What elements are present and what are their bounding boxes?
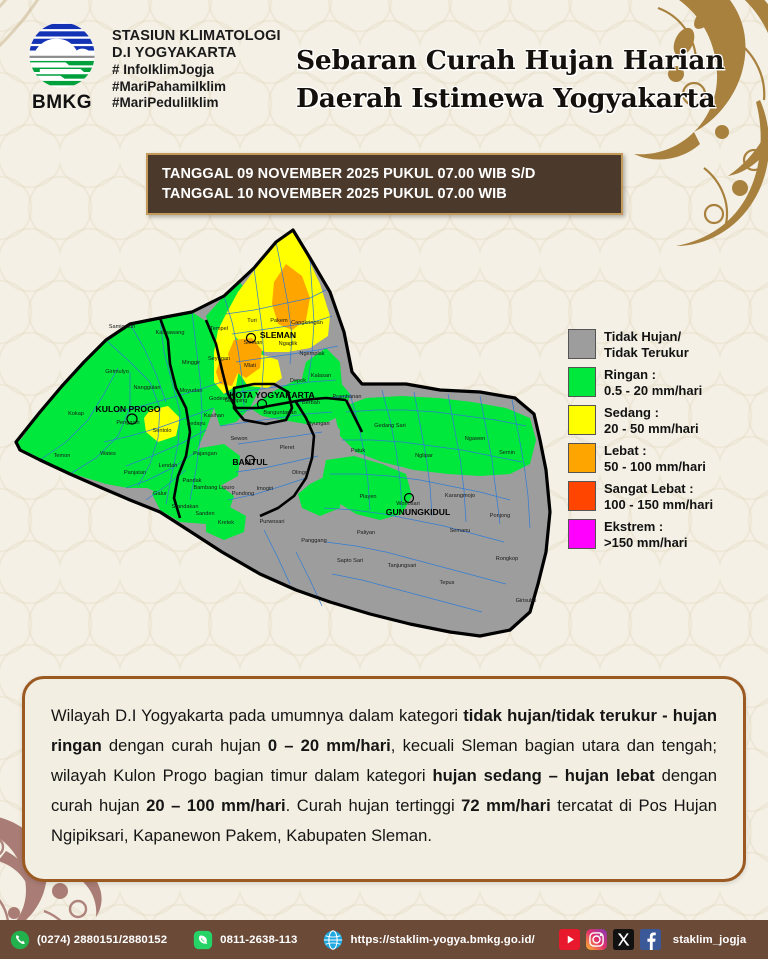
- legend-swatch-1: [568, 367, 596, 397]
- social-handle-text: staklim_jogja: [673, 934, 746, 946]
- legend-item: Sedang :20 - 50 mm/hari: [568, 404, 760, 436]
- facebook-icon[interactable]: [640, 929, 661, 950]
- bmkg-logo-block: BMKG: [16, 18, 108, 112]
- map-label-kecamatan: Imogiri: [257, 486, 274, 492]
- map-label-kecamatan: Bambang Lipuro: [193, 485, 234, 491]
- legend-swatch-3: [568, 443, 596, 473]
- map-label-kecamatan: Minggir: [182, 360, 200, 366]
- date-range-line2: TANGGAL 10 NOVEMBER 2025 PUKUL 07.00 WIB: [162, 184, 621, 204]
- phone-text: (0274) 2880151/2880152: [37, 934, 167, 946]
- legend-item: Ekstrem :>150 mm/hari: [568, 518, 760, 550]
- hashtag-3: #MariPeduliIklim: [112, 95, 281, 112]
- map-label-kecamatan: Depok: [290, 378, 306, 384]
- map-label-kecamatan: Pleret: [280, 445, 295, 451]
- map-label-kecamatan: Piyungan: [306, 421, 329, 427]
- map-label-kecamatan: Gedang Sari: [374, 423, 405, 429]
- map-label-kecamatan: Rongkop: [496, 556, 518, 562]
- map-label-kecamatan: Dlingo: [292, 470, 308, 476]
- map-label-kecamatan: Moyudan: [179, 388, 202, 394]
- title-line-2: Daerah Istimewa Yogyakarta: [296, 80, 746, 118]
- rainfall-distribution-map[interactable]: SamigaluhKalibawangGirimulyoNanggulanKok…: [10, 212, 558, 672]
- map-label-kecamatan: Pakem: [270, 318, 288, 324]
- legend-swatch-5: [568, 519, 596, 549]
- map-label-kecamatan: Panggang: [301, 538, 327, 544]
- map-label-kecamatan: Semanu: [450, 528, 471, 534]
- date-range-line1: TANGGAL 09 NOVEMBER 2025 PUKUL 07.00 WIB…: [162, 164, 621, 184]
- instagram-icon[interactable]: [586, 929, 607, 950]
- map-label-kecamatan: Pajangan: [193, 451, 217, 457]
- map-label-kabupaten: KOTA YOGYAKARTA: [229, 390, 314, 400]
- bmkg-logo-icon: [25, 18, 99, 92]
- map-label-kecamatan: Pandak: [183, 478, 202, 484]
- map-label-kecamatan: Kokap: [68, 411, 84, 417]
- infographic-page: BMKG STASIUN KLIMATOLOGI D.I YOGYAKARTA …: [0, 0, 768, 959]
- map-label-kabupaten: SLEMAN: [260, 330, 296, 340]
- legend-item: Ringan :0.5 - 20 mm/hari: [568, 366, 760, 398]
- whatsapp-contact[interactable]: 0811-2638-113: [193, 930, 297, 950]
- map-label-kecamatan: Lendah: [159, 463, 178, 469]
- phone-icon: [10, 930, 30, 950]
- website-text: https://staklim-yogya.bmkg.go.id/: [350, 934, 534, 946]
- legend-label-5: Ekstrem :>150 mm/hari: [604, 518, 687, 550]
- youtube-icon[interactable]: [559, 929, 580, 950]
- map-label-kecamatan: Pengasih: [116, 420, 139, 426]
- hashtag-1: # InfoIklimJogja: [112, 62, 281, 79]
- map-label-kecamatan: Patuk: [351, 448, 366, 454]
- map-label-kecamatan: Samigaluh: [109, 324, 135, 330]
- map-label-kecamatan: Girisubo: [516, 598, 537, 604]
- map-label-kecamatan: Ngaglik: [279, 341, 298, 347]
- date-range-banner: TANGGAL 09 NOVEMBER 2025 PUKUL 07.00 WIB…: [146, 153, 623, 215]
- map-label-kecamatan: Kasihan: [204, 413, 224, 419]
- map-label-kecamatan: Ngawen: [465, 436, 486, 442]
- map-label-kecamatan: Galur: [153, 491, 167, 497]
- map-label-kecamatan: Wates: [100, 451, 116, 457]
- map-label-kecamatan: Berbah: [302, 400, 320, 406]
- map-label-kecamatan: Banguntapan: [263, 410, 296, 416]
- map-label-kecamatan: Kalasan: [311, 373, 331, 379]
- map-svg: SamigaluhKalibawangGirimulyoNanggulanKok…: [10, 212, 558, 672]
- whatsapp-icon: [193, 930, 213, 950]
- map-label-kecamatan: Nanggulan: [133, 385, 160, 391]
- contact-footer: (0274) 2880151/2880152 0811-2638-113 htt…: [0, 920, 768, 959]
- social-links[interactable]: staklim_jogja: [559, 929, 746, 950]
- map-label-kecamatan: Kretek: [218, 520, 234, 526]
- map-label-kecamatan: Purwosari: [260, 519, 285, 525]
- map-label-kabupaten: GUNUNGKIDUL: [386, 507, 450, 517]
- map-label-kecamatan: Sentolo: [153, 428, 172, 434]
- map-label-kecamatan: Prambanan: [333, 394, 362, 400]
- legend-label-4: Sangat Lebat :100 - 150 mm/hari: [604, 480, 713, 512]
- map-label-kecamatan: Sanden: [195, 511, 214, 517]
- station-identity: STASIUN KLIMATOLOGI D.I YOGYAKARTA # Inf…: [112, 28, 281, 112]
- map-label-kecamatan: Girimulyo: [105, 369, 129, 375]
- phone-contact[interactable]: (0274) 2880151/2880152: [10, 930, 167, 950]
- map-label-kecamatan: Ngemplak: [299, 351, 324, 357]
- rainfall-legend: Tidak Hujan/Tidak Terukur Ringan :0.5 - …: [568, 328, 760, 556]
- map-label-kecamatan: Sedayu: [187, 421, 206, 427]
- summary-card: Wilayah D.I Yogyakarta pada umumnya dala…: [22, 676, 746, 882]
- legend-label-2: Sedang :20 - 50 mm/hari: [604, 404, 699, 436]
- map-label-kecamatan: Sewon: [230, 436, 247, 442]
- map-label-kabupaten: BANTUL: [232, 457, 267, 467]
- map-label-kecamatan: Kalibawang: [156, 330, 185, 336]
- map-label-kecamatan: Sleman: [244, 340, 263, 346]
- map-label-kecamatan: Srandakan: [171, 504, 198, 510]
- map-label-kecamatan: Panjatan: [124, 470, 146, 476]
- legend-item: Lebat :50 - 100 mm/hari: [568, 442, 760, 474]
- map-label-kecamatan: Tempel: [210, 326, 228, 332]
- map-label-kecamatan: Turi: [247, 318, 256, 324]
- station-name-line2: D.I YOGYAKARTA: [112, 45, 281, 62]
- map-label-kecamatan: Seyegan: [208, 356, 230, 362]
- summary-text: Wilayah D.I Yogyakarta pada umumnya dala…: [51, 701, 717, 851]
- map-label-kecamatan: Mlati: [244, 363, 256, 369]
- page-title: Sebaran Curah Hujan Harian Daerah Istime…: [296, 42, 746, 118]
- website-contact[interactable]: https://staklim-yogya.bmkg.go.id/: [323, 930, 534, 950]
- legend-swatch-2: [568, 405, 596, 435]
- map-label-kecamatan: Cangkringan: [291, 320, 323, 326]
- title-line-1: Sebaran Curah Hujan Harian: [296, 42, 746, 80]
- map-label-kecamatan: Sapto Sari: [337, 558, 363, 564]
- map-label-kecamatan: Tanjungsari: [388, 563, 417, 569]
- map-label-kabupaten: KULON PROGO: [96, 404, 161, 414]
- x-twitter-icon[interactable]: [613, 929, 634, 950]
- map-label-kecamatan: Karangmojo: [445, 493, 475, 499]
- legend-label-1: Ringan :0.5 - 20 mm/hari: [604, 366, 702, 398]
- legend-swatch-0: [568, 329, 596, 359]
- header: BMKG STASIUN KLIMATOLOGI D.I YOGYAKARTA …: [0, 0, 768, 140]
- legend-label-3: Lebat :50 - 100 mm/hari: [604, 442, 706, 474]
- whatsapp-text: 0811-2638-113: [220, 934, 297, 946]
- map-label-kecamatan: Nglipar: [415, 453, 433, 459]
- legend-item: Sangat Lebat :100 - 150 mm/hari: [568, 480, 760, 512]
- hashtag-2: #MariPahamiIklim: [112, 79, 281, 96]
- map-label-kecamatan: Playen: [359, 494, 376, 500]
- station-name-line1: STASIUN KLIMATOLOGI: [112, 28, 281, 45]
- globe-icon: [323, 930, 343, 950]
- map-label-kecamatan: Paliyan: [357, 530, 375, 536]
- map-label-kecamatan: Pundong: [232, 491, 254, 497]
- map-label-kecamatan: Tepus: [440, 580, 455, 586]
- legend-item: Tidak Hujan/Tidak Terukur: [568, 328, 760, 360]
- legend-label-0: Tidak Hujan/Tidak Terukur: [604, 328, 689, 360]
- bmkg-wordmark: BMKG: [16, 93, 108, 112]
- legend-swatch-4: [568, 481, 596, 511]
- map-label-kecamatan: Temon: [54, 453, 71, 459]
- map-label-kecamatan: Semin: [499, 450, 515, 456]
- map-label-kecamatan: Ponjong: [490, 513, 511, 519]
